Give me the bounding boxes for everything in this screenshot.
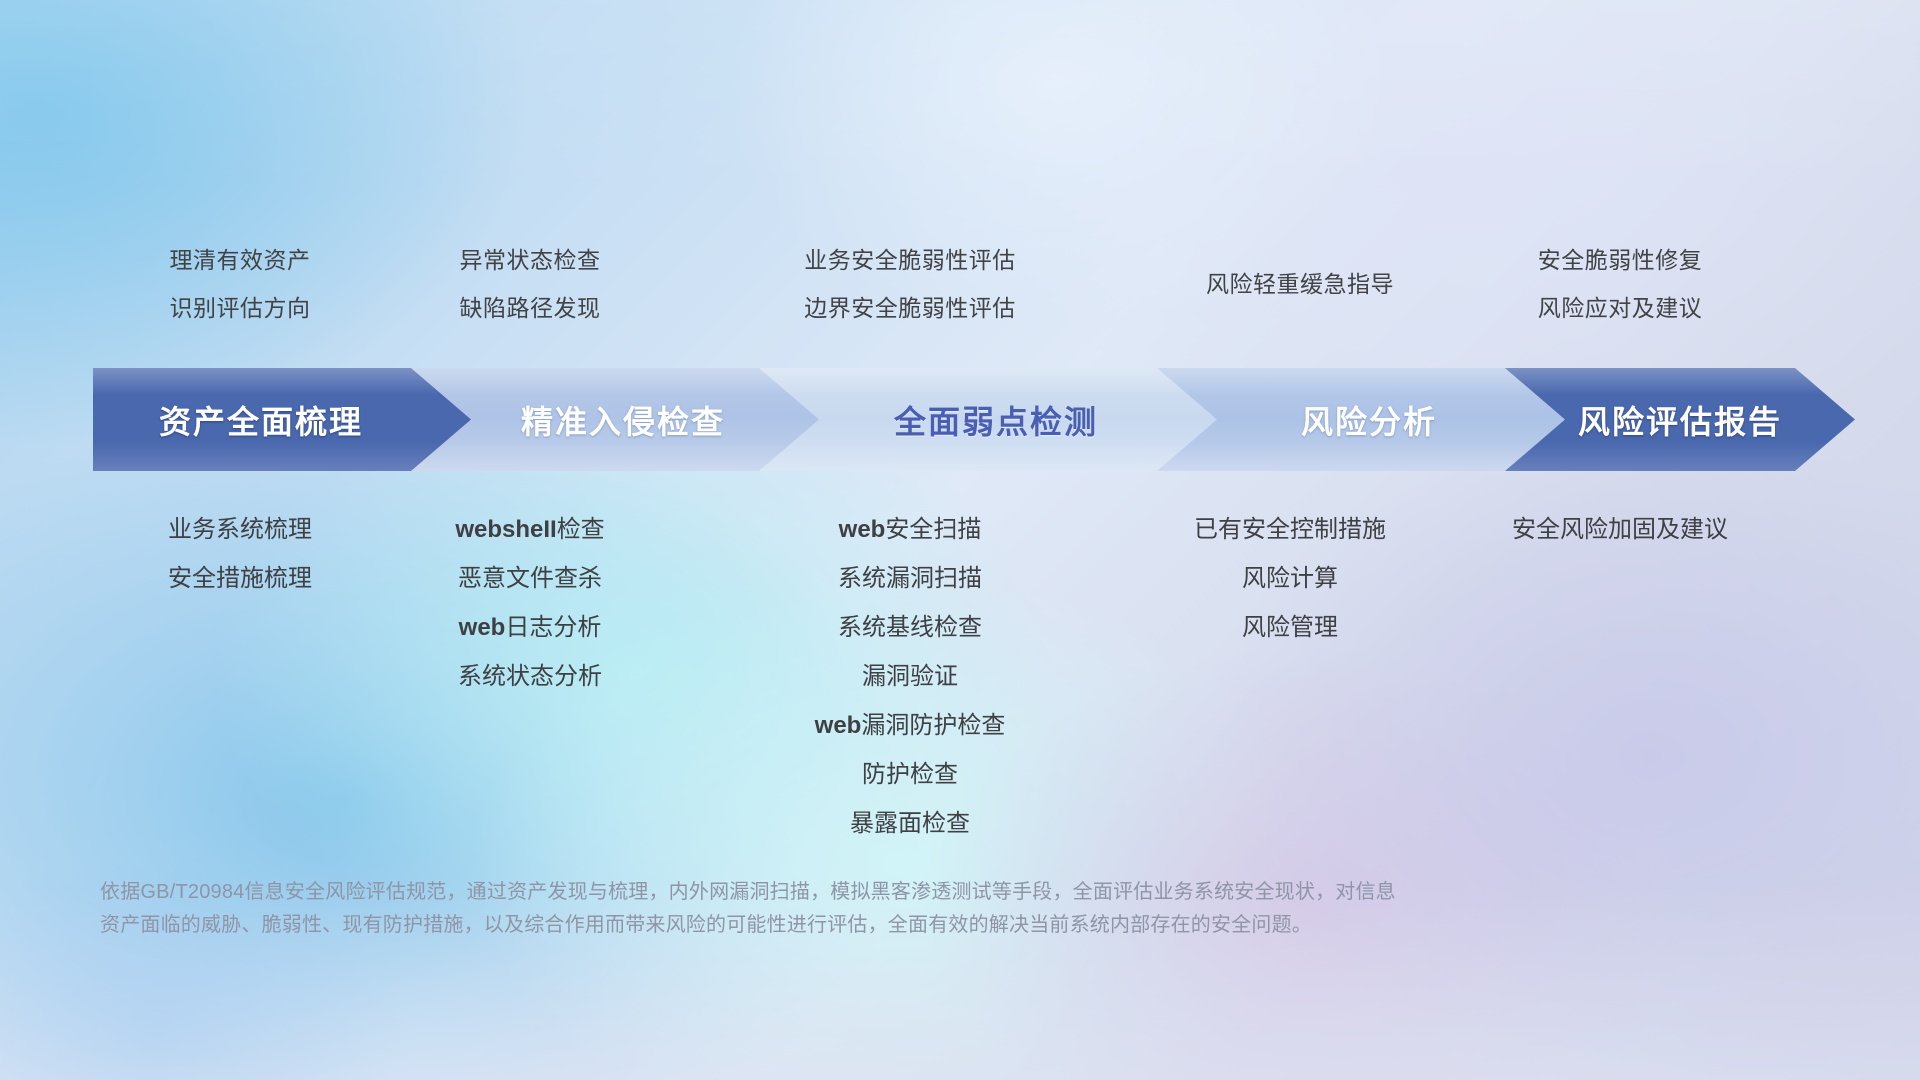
top-caption-row: 理清有效资产 识别评估方向 异常状态检查 缺陷路径发现 业务安全脆弱性评估 边界…	[0, 236, 1920, 346]
top-caption-5: 安全脆弱性修复 风险应对及建议	[1400, 236, 1840, 332]
footer-line-1: 依据GB/T20984信息安全风险评估规范，通过资产发现与梳理，内外网漏洞扫描，…	[100, 876, 1660, 909]
detail-item-text: 日志分析	[505, 614, 601, 641]
detail-item: 系统基线检查	[690, 603, 1130, 652]
detail-item: 恶意文件查杀	[320, 554, 740, 603]
stage-chevron-risk-analysis[interactable]: 风险分析	[1157, 368, 1577, 471]
detail-item-text: 风险管理	[1242, 614, 1338, 641]
top-caption-5-line-2: 风险应对及建议	[1400, 284, 1840, 332]
top-caption-2-line-2: 缺陷路径发现	[320, 284, 740, 332]
stage-chevron-asset-review[interactable]: 资产全面梳理	[93, 368, 483, 471]
detail-item: 暴露面检查	[690, 799, 1130, 848]
detail-item-text: 系统状态分析	[458, 663, 602, 690]
detail-item-text: 安全措施梳理	[168, 565, 312, 592]
stage-chevron-weakness-detect[interactable]: 全面弱点检测	[759, 368, 1229, 471]
detail-item-prefix: web	[815, 712, 862, 739]
detail-item: 风险管理	[1080, 603, 1500, 652]
detail-item: 系统状态分析	[320, 652, 740, 701]
detail-list-2: websheII检查恶意文件查杀web日志分析系统状态分析	[320, 505, 740, 701]
detail-item-text: 系统漏洞扫描	[838, 565, 982, 592]
stage-label-1: 资产全面梳理	[93, 397, 483, 443]
top-caption-3-line-2: 边界安全脆弱性评估	[690, 284, 1130, 332]
detail-item-text: 漏洞防护检查	[861, 712, 1005, 739]
top-caption-5-line-1: 安全脆弱性修复	[1400, 236, 1840, 284]
detail-item: web安全扫描	[690, 505, 1130, 554]
detail-item: 防护检查	[690, 750, 1130, 799]
detail-item: 系统漏洞扫描	[690, 554, 1130, 603]
detail-item-text: 检查	[557, 516, 605, 543]
detail-item-text: 漏洞验证	[862, 663, 958, 690]
detail-list-5: 安全风险加固及建议	[1400, 505, 1840, 554]
detail-item: websheII检查	[320, 505, 740, 554]
detail-item-prefix: web	[459, 614, 506, 641]
footer-line-2: 资产面临的威胁、脆弱性、现有防护措施，以及综合作用而带来风险的可能性进行评估，全…	[100, 909, 1660, 942]
top-caption-2: 异常状态检查 缺陷路径发现	[320, 236, 740, 332]
stage-label-3: 全面弱点检测	[759, 397, 1229, 443]
detail-item-text: 安全风险加固及建议	[1512, 516, 1728, 543]
top-caption-3-line-1: 业务安全脆弱性评估	[690, 236, 1130, 284]
detail-item: 安全风险加固及建议	[1400, 505, 1840, 554]
detail-item-text: 业务系统梳理	[168, 516, 312, 543]
process-chevron-band: 资产全面梳理 精准入侵检查 全面弱点检测 风险分析 风险评估报告	[93, 368, 1855, 471]
detail-item-text: 防护检查	[862, 761, 958, 788]
detail-item: web日志分析	[320, 603, 740, 652]
detail-item-text: 暴露面检查	[850, 810, 970, 837]
detail-item: web漏洞防护检查	[690, 701, 1130, 750]
footer-description: 依据GB/T20984信息安全风险评估规范，通过资产发现与梳理，内外网漏洞扫描，…	[100, 876, 1660, 942]
stage-label-4: 风险分析	[1157, 397, 1577, 443]
detail-item-text: 风险计算	[1242, 565, 1338, 592]
stage-chevron-intrusion-check[interactable]: 精准入侵检查	[411, 368, 831, 471]
detail-item-text: 安全扫描	[885, 516, 981, 543]
detail-list-3: web安全扫描系统漏洞扫描系统基线检查漏洞验证web漏洞防护检查防护检查暴露面检…	[690, 505, 1130, 848]
detail-item: 风险计算	[1080, 554, 1500, 603]
detail-item: 漏洞验证	[690, 652, 1130, 701]
detail-item-text: 已有安全控制措施	[1194, 516, 1386, 543]
detail-item-prefix: web	[839, 516, 886, 543]
top-caption-3: 业务安全脆弱性评估 边界安全脆弱性评估	[690, 236, 1130, 332]
stage-label-2: 精准入侵检查	[411, 397, 831, 443]
detail-item-prefix: websheII	[455, 516, 556, 543]
top-caption-2-line-1: 异常状态检查	[320, 236, 740, 284]
detail-item-text: 系统基线检查	[838, 614, 982, 641]
detail-item-text: 恶意文件查杀	[458, 565, 602, 592]
